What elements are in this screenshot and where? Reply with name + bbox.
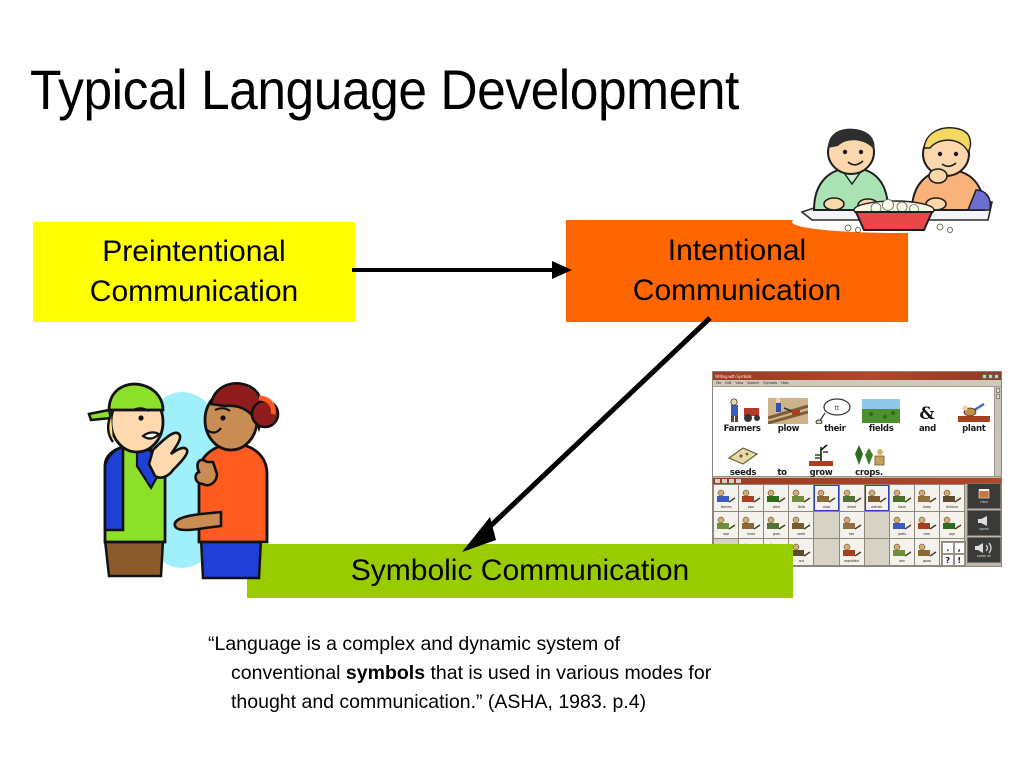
aac-word-label: plant xyxy=(962,424,985,435)
aac-grid-cell-plant[interactable]: plant xyxy=(764,485,788,511)
chicken-icon xyxy=(942,488,962,505)
wheat-icon xyxy=(842,488,862,505)
sheep-icon xyxy=(917,488,937,505)
aac-key-question[interactable]: ? xyxy=(942,554,954,566)
aac-grid-cell-empty[interactable] xyxy=(814,539,838,565)
quote-text: “Language is a complex and dynamic syste… xyxy=(208,630,908,717)
kids-eating-illustration xyxy=(790,124,1002,234)
aac-grid-cell-sheep[interactable]: sheep xyxy=(915,485,939,511)
aac-title-bar: Writing with Symbols xyxy=(713,372,1001,380)
stage-label-line1: Intentional xyxy=(566,231,908,271)
aac-vertical-scrollbar[interactable] xyxy=(994,387,1001,476)
aac-key-exclamation[interactable]: ! xyxy=(954,554,966,566)
aac-speak-button[interactable]: speak xyxy=(967,510,1001,536)
quote-line-2-post: that is used in various modes for xyxy=(425,662,711,684)
vegetable-icon xyxy=(842,542,862,559)
aac-ctrl-label: speak xyxy=(979,527,988,531)
svg-text:tt: tt xyxy=(834,405,839,412)
aac-grid-cell-label: and xyxy=(799,559,804,563)
goat-icon xyxy=(892,515,912,532)
aac-grid-cell-label: crops xyxy=(823,505,831,509)
aac-grid-cell-empty[interactable] xyxy=(814,512,838,538)
stage-box-preintentional[interactable]: Preintentional Communication xyxy=(33,222,355,322)
aac-side-controls[interactable]: clear speak speak all xyxy=(967,483,1001,563)
aac-word-crops[interactable]: crops. xyxy=(845,435,893,479)
aac-word-to[interactable]: to xyxy=(767,435,797,479)
aac-key-comma[interactable]: , xyxy=(954,542,966,554)
aac-grid-cell-label: barn xyxy=(899,559,905,563)
tree-icon xyxy=(842,515,862,532)
aac-grid-cell-label: tree xyxy=(849,532,855,536)
horizontal-arrow-icon xyxy=(352,255,572,285)
aac-word-their[interactable]: tt their xyxy=(812,391,858,435)
possessive-icon: tt xyxy=(815,398,855,424)
aac-grid-cell-chickens[interactable]: chickens xyxy=(940,485,964,511)
animals-icon xyxy=(867,488,887,505)
stage-label-line1: Preintentional xyxy=(33,232,355,272)
quote-line-1: “Language is a complex and dynamic syste… xyxy=(208,630,908,659)
aac-grid-cell-label: wheat xyxy=(847,505,856,509)
plow-icon xyxy=(741,488,761,505)
stage-label-line2: Communication xyxy=(33,272,355,312)
aac-grid-cell-plow[interactable]: plow xyxy=(739,485,763,511)
aac-menu-bar[interactable]: File Edit View Speech Symbols Help xyxy=(713,380,1001,387)
green-field-icon xyxy=(861,398,901,424)
aac-sentence-row-2: seeds to grow crops. xyxy=(719,435,997,479)
aac-ctrl-label: clear xyxy=(980,500,988,504)
svg-text:&: & xyxy=(920,404,936,424)
aac-clear-button[interactable]: clear xyxy=(967,483,1001,509)
aac-word-label: and xyxy=(919,424,936,435)
aac-word-label: plow xyxy=(778,424,800,435)
aac-grid-cell-grow[interactable]: grow xyxy=(764,512,788,538)
riding-icon xyxy=(741,515,761,532)
aac-software-screenshot[interactable]: Writing with Symbols File Edit View Spee… xyxy=(712,371,1002,567)
aac-grid-cell-label: plow xyxy=(748,505,755,509)
aac-grid-cell-label: grow xyxy=(773,532,780,536)
aac-word-fields[interactable]: fields xyxy=(858,391,904,435)
aac-grid-cell-label: animals xyxy=(871,505,882,509)
aac-grid-cell-horse[interactable]: horse xyxy=(739,512,763,538)
aac-sentence-area[interactable]: Farmers plow tt their xyxy=(713,387,1001,477)
aac-grid-cell-goats[interactable]: goats xyxy=(890,512,914,538)
field-icon xyxy=(791,488,811,505)
horse-icon xyxy=(892,488,912,505)
aac-grid-cell-wheat[interactable]: wheat xyxy=(840,485,864,511)
aac-word-plow[interactable]: plow xyxy=(765,391,811,435)
stage-label-line2: Communication xyxy=(566,271,908,311)
aac-grid-cell-label: seeds xyxy=(797,532,805,536)
aac-grid-cell-label: vegetables xyxy=(844,559,860,563)
aac-title-text: Writing with Symbols xyxy=(715,374,982,379)
aac-grid-cell-label: plant xyxy=(773,505,780,509)
aac-grid-cell-label: fields xyxy=(798,505,805,509)
diagonal-arrow-icon xyxy=(440,312,730,557)
aac-grid-cell-cows[interactable]: cows xyxy=(915,512,939,538)
goose-icon xyxy=(917,542,937,559)
planting-icon xyxy=(766,488,786,505)
barn-icon xyxy=(892,542,912,559)
aac-menu-help[interactable]: Help xyxy=(781,381,788,385)
aac-grid-cell-barn[interactable]: barn xyxy=(890,539,914,565)
blank-symbol xyxy=(762,442,802,468)
aac-menu-symbols[interactable]: Symbols xyxy=(763,381,777,385)
aac-word-and[interactable]: & and xyxy=(904,391,950,435)
aac-grid-cell-fields[interactable]: fields xyxy=(789,485,813,511)
stage-box-intentional[interactable]: Intentional Communication xyxy=(566,220,908,322)
seed-packet-icon xyxy=(791,515,811,532)
growing-plant-icon xyxy=(801,442,841,468)
quote-bold-symbols: symbols xyxy=(346,662,425,684)
aac-window-controls[interactable] xyxy=(982,374,999,379)
page-title: Typical Language Development xyxy=(30,58,886,122)
crops-icon xyxy=(849,442,889,468)
aac-grid-cell-label: cows xyxy=(923,532,930,536)
aac-grid-cell-animals[interactable]: animals xyxy=(865,485,889,511)
crops-icon xyxy=(816,488,836,505)
stage-label-symbolic: Symbolic Communication xyxy=(247,551,793,591)
aac-speak-all-button[interactable]: speak all xyxy=(967,537,1001,563)
aac-menu-view[interactable]: View xyxy=(735,381,743,385)
cow-icon xyxy=(917,515,937,532)
aac-grid-cell-label: horse xyxy=(747,532,755,536)
ampersand-icon: & xyxy=(907,398,947,424)
aac-grid-cell-goose[interactable]: goose xyxy=(915,539,939,565)
aac-grid-cell-pigs[interactable]: pigs xyxy=(940,512,964,538)
aac-grid-cell-label: horse xyxy=(898,505,906,509)
aac-grid-cell-label: chickens xyxy=(946,505,958,509)
aac-word-label: fields xyxy=(869,424,894,435)
aac-word-label: their xyxy=(824,424,846,435)
aac-grid-cell-label: goats xyxy=(898,532,906,536)
planting-icon xyxy=(954,398,994,424)
quote-line-2: conventional symbols that is used in var… xyxy=(208,659,908,688)
aac-grid-cell-crops[interactable]: crops xyxy=(814,485,838,511)
quote-line-2-pre: conventional xyxy=(231,662,346,684)
aac-grid-cell-label: goose xyxy=(923,559,932,563)
aac-word-plant[interactable]: plant xyxy=(951,391,997,435)
slide-canvas: Typical Language Development Preintentio… xyxy=(0,0,1024,768)
people-talking-illustration xyxy=(75,370,290,582)
aac-sentence-row-1: Farmers plow tt their xyxy=(719,391,997,435)
pig-icon xyxy=(942,515,962,532)
aac-grid-cell-seeds[interactable]: seeds xyxy=(789,512,813,538)
aac-grid-cell-label: sheep xyxy=(923,505,932,509)
aac-punctuation-keys[interactable]: . , ? ! xyxy=(941,541,966,567)
aac-grid-cell-empty[interactable] xyxy=(865,539,889,565)
aac-grid-cell-horse[interactable]: horse xyxy=(890,485,914,511)
aac-grid-cell-tree[interactable]: tree xyxy=(840,512,864,538)
aac-grid-cell-empty[interactable] xyxy=(865,512,889,538)
ampersand-icon xyxy=(791,542,811,559)
plowing-field-icon xyxy=(768,398,808,424)
aac-ctrl-label: speak all xyxy=(977,554,991,558)
quote-line-3: thought and communication.” (ASHA, 1983.… xyxy=(208,688,908,717)
aac-grid-cell-vegetables[interactable]: vegetables xyxy=(840,539,864,565)
growing-icon xyxy=(766,515,786,532)
aac-menu-speech[interactable]: Speech xyxy=(747,381,759,385)
aac-key-period[interactable]: . xyxy=(942,542,954,554)
aac-word-grow[interactable]: grow xyxy=(797,435,845,479)
aac-grid-cell-label: pigs xyxy=(949,532,955,536)
